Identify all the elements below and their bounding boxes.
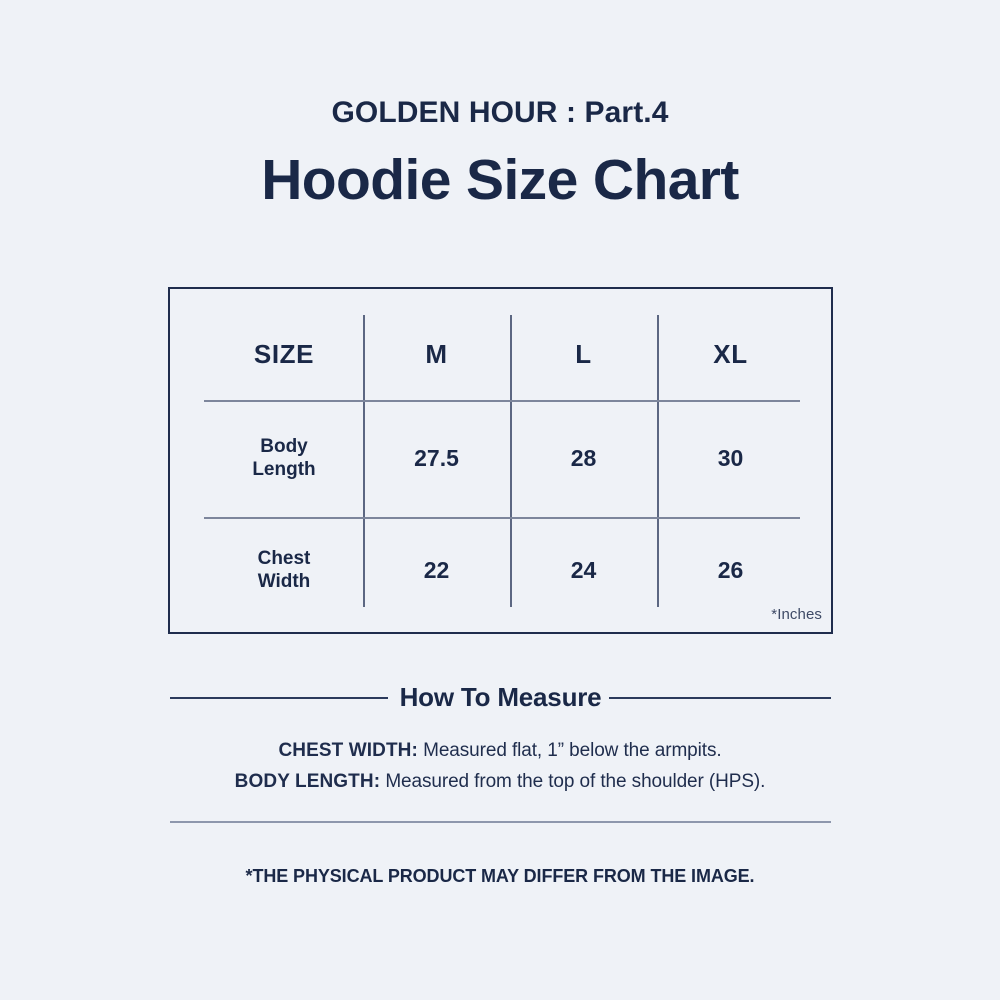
measure-item-chest-width: CHEST WIDTH: Measured flat, 1” below the…	[0, 735, 1000, 766]
measure-label-chest-width: CHEST WIDTH:	[278, 740, 417, 761]
table-header-xl: XL	[657, 339, 804, 371]
how-to-measure-heading: How To Measure	[168, 680, 833, 714]
body-length-label-line1: Body	[205, 435, 363, 458]
page-title: Hoodie Size Chart	[0, 149, 1000, 212]
cell-chest-width-m: 22	[363, 556, 510, 584]
measure-label-body-length: BODY LENGTH:	[235, 771, 380, 792]
table-header-l: L	[510, 339, 657, 371]
table-row-label-body-length: Body Length	[205, 435, 363, 481]
footer-divider	[170, 821, 831, 823]
collection-kicker: GOLDEN HOUR : Part.4	[0, 96, 1000, 131]
row-divider-2	[204, 517, 800, 519]
cell-body-length-xl: 30	[657, 444, 804, 472]
table-header-size: SIZE	[205, 339, 363, 371]
size-table: SIZE M L XL Body Length 27.5 28 30 Chest…	[168, 287, 833, 634]
cell-body-length-l: 28	[510, 444, 657, 472]
how-to-measure-list: CHEST WIDTH: Measured flat, 1” below the…	[0, 735, 1000, 797]
disclaimer-text: *THE PHYSICAL PRODUCT MAY DIFFER FROM TH…	[0, 866, 1000, 887]
measure-item-body-length: BODY LENGTH: Measured from the top of th…	[0, 766, 1000, 797]
unit-note: *Inches	[771, 606, 822, 623]
table-header-m: M	[363, 339, 510, 371]
cell-body-length-m: 27.5	[363, 444, 510, 472]
how-to-measure-title: How To Measure	[168, 680, 833, 714]
page-header: GOLDEN HOUR : Part.4 Hoodie Size Chart	[0, 96, 1000, 211]
row-divider-1	[204, 400, 800, 402]
chest-width-label-line1: Chest	[205, 547, 363, 570]
measure-text-body-length: Measured from the top of the shoulder (H…	[380, 771, 765, 792]
table-row-label-chest-width: Chest Width	[205, 547, 363, 593]
measure-text-chest-width: Measured flat, 1” below the armpits.	[418, 740, 722, 761]
cell-chest-width-l: 24	[510, 556, 657, 584]
size-chart-page: GOLDEN HOUR : Part.4 Hoodie Size Chart S…	[0, 0, 1000, 1000]
body-length-label-line2: Length	[205, 458, 363, 481]
cell-chest-width-xl: 26	[657, 556, 804, 584]
chest-width-label-line2: Width	[205, 570, 363, 593]
